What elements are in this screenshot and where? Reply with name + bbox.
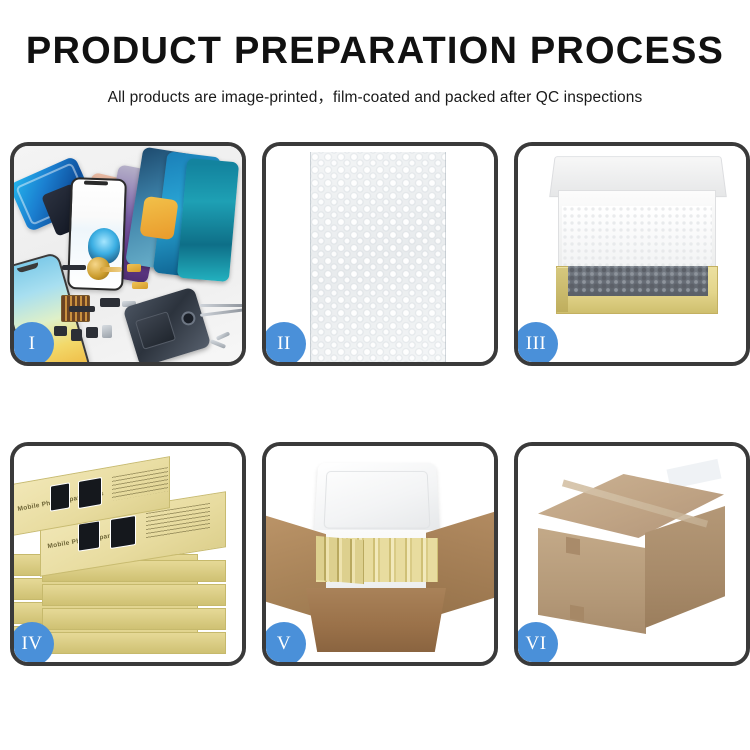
step-6-illustration: VI [518,446,746,662]
tweezers-icon [200,294,242,334]
step-panel-1[interactable]: I [10,142,246,366]
page-subtitle: All products are image-printed，film-coat… [0,85,750,107]
flex-cable-icon [100,267,122,272]
step-panel-3[interactable]: III [514,142,750,366]
step-5-illustration: V [266,446,494,662]
step-badge-5: V [266,622,306,662]
metal-bracket-icon [102,325,112,338]
step-4-illustration: Mobile Phone Spare Parts Mobile Phone Sp… [14,446,242,662]
carton-front-icon [306,588,446,652]
box-window-screen-icon [78,520,100,551]
volume-flex-icon [132,282,148,289]
bag-seam [310,152,446,362]
camera-lens-icon [180,310,197,327]
step-badge-3: III [518,322,558,362]
carton-tab-lower [570,605,584,621]
product-preparation-infographic: PRODUCT PREPARATION PROCESS All products… [0,0,750,750]
step-panel-2[interactable]: II [262,142,498,366]
box-window-screen-icon-4 [78,477,102,509]
page-title: PRODUCT PREPARATION PROCESS [0,30,750,74]
phone-notch-icon [84,181,108,186]
box-side-panel [556,268,568,312]
step-panel-6[interactable]: VI [514,442,750,666]
white-foam-sheet-icon [562,206,712,274]
gray-foam-insert-icon [568,266,708,296]
step-panel-4[interactable]: Mobile Phone Spare Parts Mobile Phone Sp… [10,442,246,666]
retail-box-stack-item [42,608,226,630]
retail-box-stack-item [42,584,226,606]
sensor-flex-icon [100,298,120,307]
phone-teal-icon [177,158,239,282]
ribbon-cable-icon [69,306,95,312]
step-badge-4: IV [14,622,54,662]
steps-grid: I II [10,142,748,687]
carton-tab-upper [566,537,580,555]
foam-lid-icon [314,463,441,538]
phone-gold-icon [139,196,178,240]
carton-front-face [538,528,646,634]
camera-part-icon [71,329,82,341]
yellow-boxes-row-secondary-icon [316,536,364,584]
step-1-illustration: I [14,146,242,362]
step-badge-2: II [266,322,306,362]
screw-icon [210,339,226,349]
box-window-screen-icon-3 [50,482,70,512]
step-badge-1: I [14,322,54,362]
speaker-part-icon [86,327,98,338]
phone-back-housing-icon [123,287,212,362]
step-panel-5[interactable]: V [262,442,498,666]
box-window-screen-icon-2 [110,515,136,549]
step-badge-6: VI [518,622,558,662]
header: PRODUCT PREPARATION PROCESS All products… [0,0,750,107]
gold-connector-icon [127,264,141,272]
button-part-icon [54,326,67,336]
battery-icon [135,311,176,350]
step-2-illustration: II [266,146,494,362]
retail-box-stack-item [42,632,226,654]
step-3-illustration: III [518,146,746,362]
antenna-strip-icon [62,265,86,270]
